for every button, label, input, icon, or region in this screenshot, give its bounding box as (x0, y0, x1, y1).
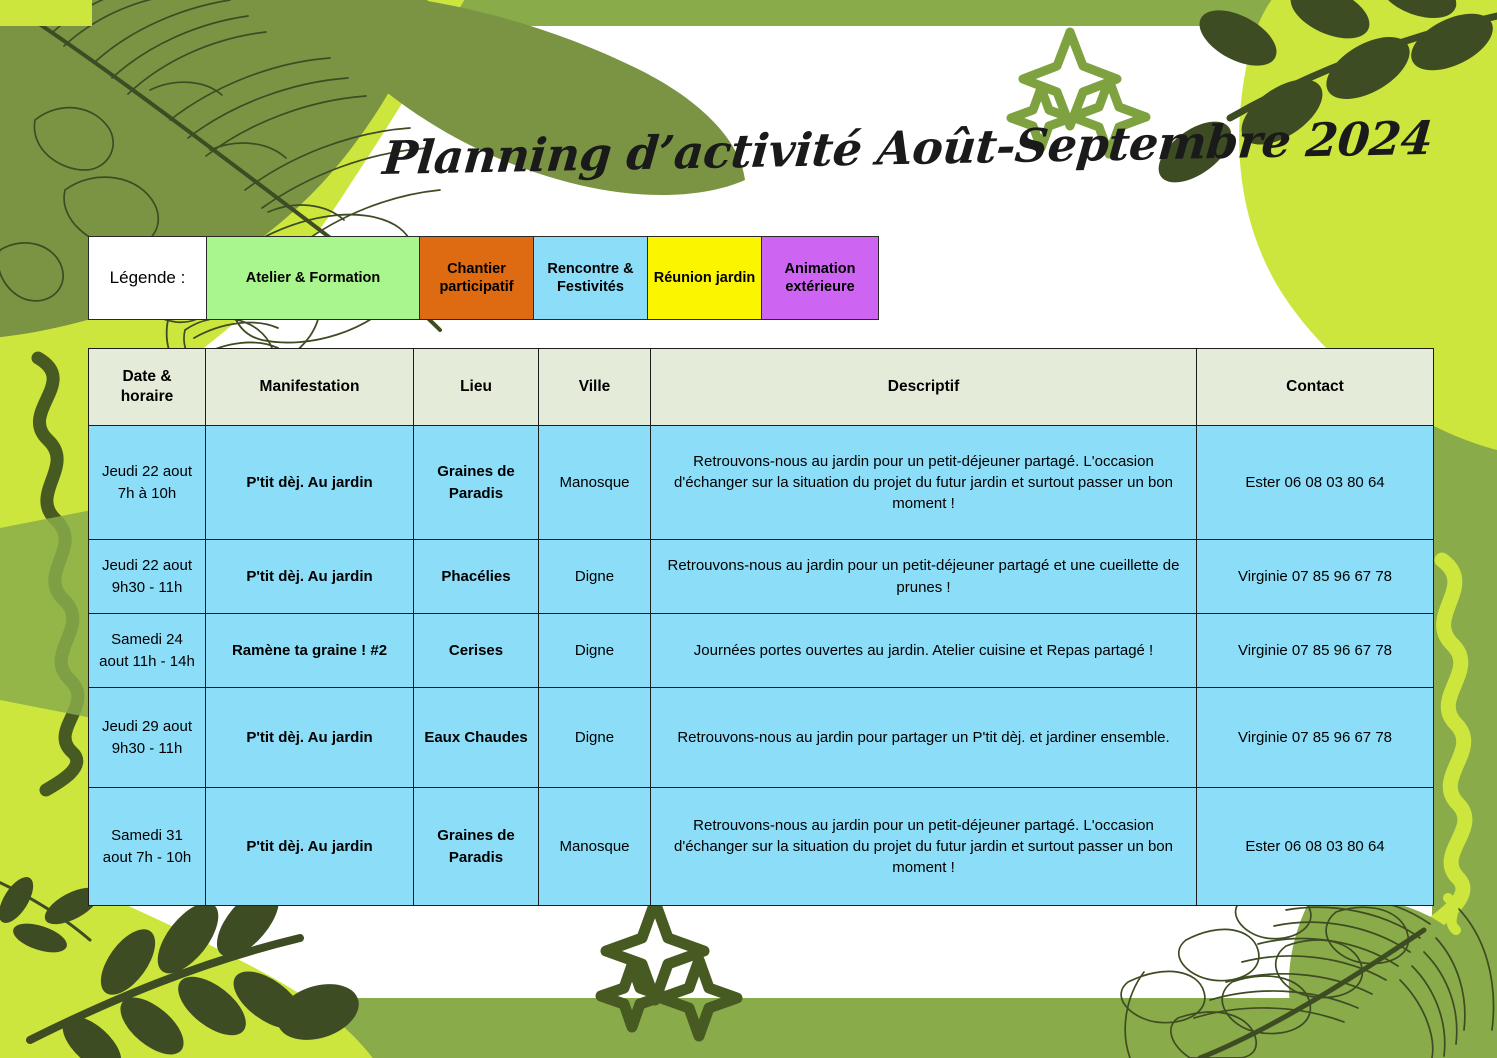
cell-date: Samedi 31 aout 7h - 10h (89, 788, 206, 906)
cell-manifestation: P'tit dèj. Au jardin (206, 688, 414, 788)
column-header-contact: Contact (1197, 349, 1434, 426)
cell-ville: Manosque (539, 788, 651, 906)
cell-date: Jeudi 29 aout 9h30 - 11h (89, 688, 206, 788)
page-title: Planning d’activité Août-Septembre 2024 (381, 116, 1187, 185)
cell-contact: Virginie 07 85 96 67 78 (1197, 688, 1434, 788)
legend-item-rencontre-festivites: Rencontre & Festivités (534, 237, 648, 319)
sparkle-icon-bottom (601, 902, 737, 1036)
cell-contact: Ester 06 08 03 80 64 (1197, 788, 1434, 906)
cell-manifestation: Ramène ta graine ! #2 (206, 614, 414, 688)
cell-date: Jeudi 22 aout 9h30 - 11h (89, 540, 206, 614)
column-header-ville: Ville (539, 349, 651, 426)
cell-manifestation: P'tit dèj. Au jardin (206, 788, 414, 906)
poster-page: Planning d’activité Août-Septembre 2024 … (0, 0, 1497, 1058)
table-row: Samedi 24 aout 11h - 14h Ramène ta grain… (89, 614, 1434, 688)
schedule-table: Date & horaire Manifestation Lieu Ville … (88, 348, 1434, 906)
cell-lieu: Eaux Chaudes (414, 688, 539, 788)
cell-ville: Digne (539, 540, 651, 614)
table-row: Jeudi 22 aout 9h30 - 11h P'tit dèj. Au j… (89, 540, 1434, 614)
legend: Légende : Atelier & Formation Chantier p… (88, 236, 879, 320)
cell-ville: Digne (539, 614, 651, 688)
table-row: Jeudi 22 aout 7h à 10h P'tit dèj. Au jar… (89, 426, 1434, 540)
bottom-right-monstera (1121, 891, 1497, 1058)
cell-lieu: Cerises (414, 614, 539, 688)
table-row: Jeudi 29 aout 9h30 - 11h P'tit dèj. Au j… (89, 688, 1434, 788)
legend-item-atelier-formation: Atelier & Formation (207, 237, 420, 319)
cell-lieu: Phacélies (414, 540, 539, 614)
table-header-row: Date & horaire Manifestation Lieu Ville … (89, 349, 1434, 426)
bottom-band (0, 998, 1497, 1058)
left-band (0, 0, 92, 1058)
cell-contact: Virginie 07 85 96 67 78 (1197, 540, 1434, 614)
column-header-manifestation: Manifestation (206, 349, 414, 426)
cell-descriptif: Journées portes ouvertes au jardin. Atel… (651, 614, 1197, 688)
legend-item-reunion-jardin: Réunion jardin (648, 237, 762, 319)
cell-date: Jeudi 22 aout 7h à 10h (89, 426, 206, 540)
legend-label: Légende : (89, 237, 207, 319)
column-header-descriptif: Descriptif (651, 349, 1197, 426)
cell-lieu: Graines de Paradis (414, 426, 539, 540)
top-band (0, 0, 1497, 26)
cell-ville: Digne (539, 688, 651, 788)
cell-descriptif: Retrouvons-nous au jardin pour un petit-… (651, 788, 1197, 906)
table-row: Samedi 31 aout 7h - 10h P'tit dèj. Au ja… (89, 788, 1434, 906)
column-header-lieu: Lieu (414, 349, 539, 426)
cell-lieu: Graines de Paradis (414, 788, 539, 906)
cell-contact: Ester 06 08 03 80 64 (1197, 426, 1434, 540)
cell-date: Samedi 24 aout 11h - 14h (89, 614, 206, 688)
left-squiggle (0, 358, 92, 790)
cell-contact: Virginie 07 85 96 67 78 (1197, 614, 1434, 688)
cell-descriptif: Retrouvons-nous au jardin pour un petit-… (651, 540, 1197, 614)
cell-descriptif: Retrouvons-nous au jardin pour partager … (651, 688, 1197, 788)
cell-manifestation: P'tit dèj. Au jardin (206, 426, 414, 540)
column-header-date: Date & horaire (89, 349, 206, 426)
right-band (1432, 0, 1497, 1058)
cell-manifestation: P'tit dèj. Au jardin (206, 540, 414, 614)
cell-descriptif: Retrouvons-nous au jardin pour un petit-… (651, 426, 1197, 540)
legend-item-chantier-participatif: Chantier participatif (420, 237, 534, 319)
legend-item-animation-exterieure: Animation extérieure (762, 237, 878, 319)
cell-ville: Manosque (539, 426, 651, 540)
